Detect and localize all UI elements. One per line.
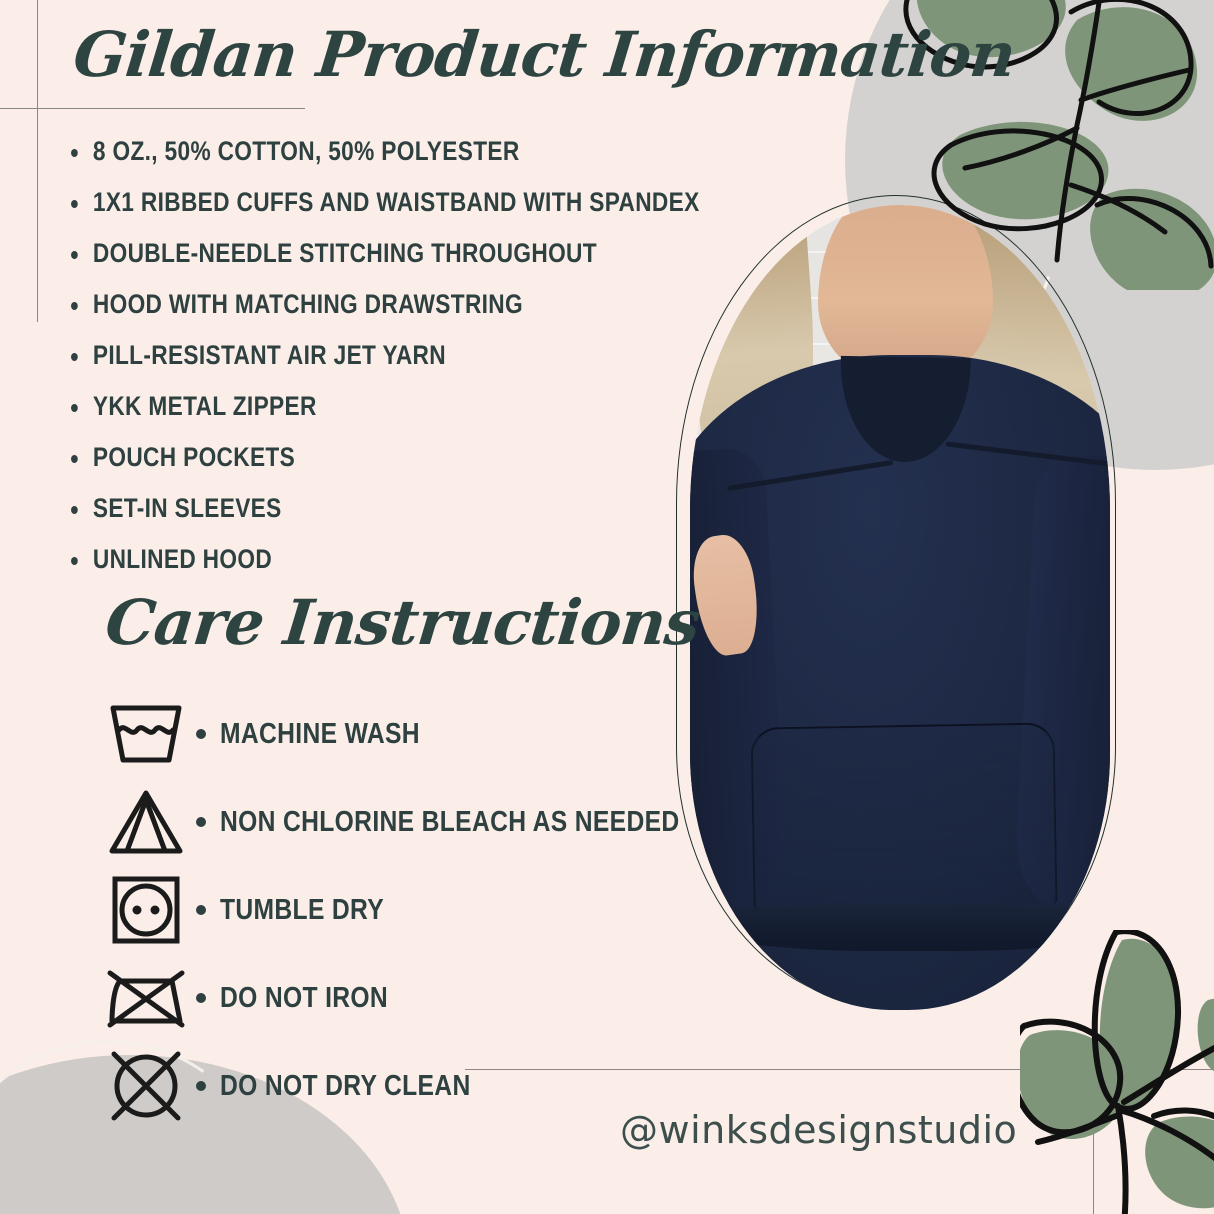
- do-not-dry-clean-icon: [100, 1048, 192, 1124]
- do-not-iron-icon: [100, 967, 192, 1029]
- care-row-machine-wash: MACHINE WASH: [100, 690, 720, 778]
- page-title: Gildan Product Information: [70, 18, 1018, 91]
- care-bullet-dot: [196, 1081, 206, 1091]
- care-row-tumble-dry: TUMBLE DRY: [100, 866, 720, 954]
- model-neck: [818, 205, 993, 377]
- divider-vertical-left: [37, 0, 38, 322]
- care-label: MACHINE WASH: [220, 718, 420, 751]
- divider-horizontal-top: [0, 108, 305, 109]
- care-row-non-chlorine-bleach: NON CHLORINE BLEACH AS NEEDED: [100, 778, 720, 866]
- list-item: SET-IN SLEEVES: [66, 483, 604, 534]
- poster-canvas: Gildan Product Information Care Instruct…: [0, 0, 1214, 1214]
- care-row-do-not-iron: DO NOT IRON: [100, 954, 720, 1042]
- care-label: NON CHLORINE BLEACH AS NEEDED: [220, 806, 680, 839]
- list-item: 8 OZ., 50% COTTON, 50% POLYESTER: [66, 126, 604, 177]
- non-chlorine-bleach-icon: [100, 788, 192, 856]
- list-item: HOOD WITH MATCHING DRAWSTRING: [66, 279, 604, 330]
- list-item: 1X1 RIBBED CUFFS AND WAISTBAND WITH SPAN…: [66, 177, 604, 228]
- care-label: DO NOT IRON: [220, 982, 388, 1015]
- care-instructions-title: Care Instructions: [102, 586, 703, 659]
- photo-oval-mask: [690, 205, 1110, 1010]
- care-label: DO NOT DRY CLEAN: [220, 1070, 471, 1103]
- tumble-dry-icon: [100, 874, 192, 946]
- care-instruction-list: MACHINE WASH NON CHLORINE BLEACH AS NEED…: [100, 690, 720, 1130]
- ribbed-waistband: [690, 905, 1110, 951]
- care-bullet-dot: [196, 729, 206, 739]
- list-item: UNLINED HOOD: [66, 534, 604, 585]
- list-item: PILL-RESISTANT AIR JET YARN: [66, 330, 604, 381]
- photo-content: [690, 205, 1110, 1010]
- care-bullet-dot: [196, 905, 206, 915]
- product-photo: [690, 205, 1110, 1010]
- divider-vertical-right: [1093, 1022, 1094, 1214]
- care-label: TUMBLE DRY: [220, 894, 384, 927]
- care-bullet-dot: [196, 817, 206, 827]
- list-item: POUCH POCKETS: [66, 432, 604, 483]
- product-feature-list: 8 OZ., 50% COTTON, 50% POLYESTER 1X1 RIB…: [66, 126, 706, 585]
- list-item: DOUBLE-NEEDLE STITCHING THROUGHOUT: [66, 228, 604, 279]
- list-item: YKK METAL ZIPPER: [66, 381, 604, 432]
- machine-wash-icon: [100, 702, 192, 766]
- social-handle: @winksdesignstudio: [620, 1108, 1017, 1152]
- pouch-pocket: [750, 722, 1057, 909]
- care-bullet-dot: [196, 993, 206, 1003]
